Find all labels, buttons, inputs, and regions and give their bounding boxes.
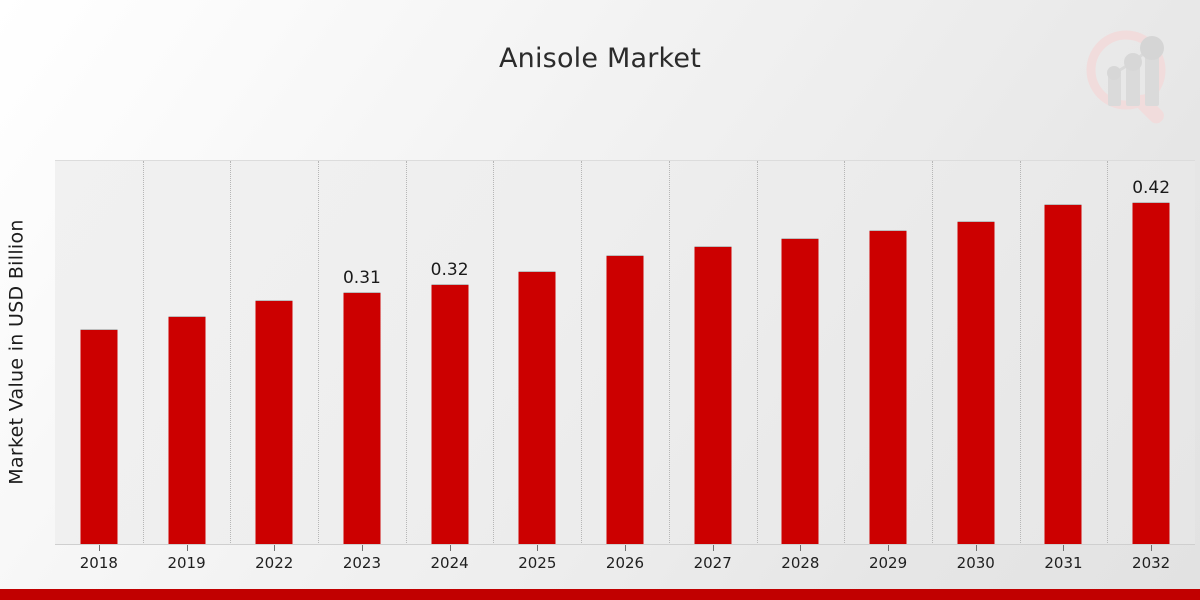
x-tick-label: 2031 (1044, 554, 1082, 572)
bar-value-label: 0.31 (343, 268, 381, 288)
plot-area: 0.310.320.42 (55, 160, 1195, 545)
x-tick-mark (625, 545, 626, 551)
bar[interactable] (694, 246, 731, 545)
x-tick-mark (1063, 545, 1064, 551)
x-tick-label: 2023 (343, 554, 381, 572)
x-tick-label: 2025 (518, 554, 556, 572)
chart-title: Anisole Market (0, 42, 1200, 76)
bar[interactable] (606, 255, 643, 545)
bar[interactable] (168, 316, 205, 545)
bar-slot: 0.42 (1107, 161, 1195, 545)
x-tick-mark (888, 545, 889, 551)
bar-slot (143, 161, 231, 545)
y-axis-title: Market Value in USD Billion (0, 160, 34, 544)
bar-slot (581, 161, 669, 545)
bar[interactable] (431, 284, 468, 545)
bar[interactable] (343, 292, 380, 545)
x-tick-mark (99, 545, 100, 551)
bar-slot (493, 161, 581, 545)
bar-slot (55, 161, 143, 545)
x-tick-label: 2022 (255, 554, 293, 572)
brand-logo (1074, 22, 1182, 130)
x-tick-label: 2018 (80, 554, 118, 572)
bar-slot (932, 161, 1020, 545)
bar-value-label: 0.42 (1132, 178, 1170, 198)
x-tick-mark (713, 545, 714, 551)
x-tick-mark (537, 545, 538, 551)
x-tick-label: 2032 (1132, 554, 1170, 572)
bar-slot (230, 161, 318, 545)
x-tick-label: 2030 (957, 554, 995, 572)
x-tick-mark (362, 545, 363, 551)
bar[interactable] (957, 221, 994, 545)
x-axis: 2018201920222023202420252026202720282029… (55, 544, 1195, 590)
x-tick-label: 2029 (869, 554, 907, 572)
bar-slot: 0.32 (406, 161, 494, 545)
bar[interactable] (870, 230, 907, 545)
footer-band (0, 589, 1200, 600)
bar-value-label: 0.32 (431, 260, 469, 280)
y-axis-title-label: Market Value in USD Billion (6, 219, 28, 484)
x-tick-label: 2027 (694, 554, 732, 572)
x-tick-label: 2026 (606, 554, 644, 572)
bar-slot (1020, 161, 1108, 545)
bar[interactable] (1045, 204, 1082, 546)
x-tick-mark (1151, 545, 1152, 551)
chart-figure: Anisole Market Market Value in USD Billi… (0, 0, 1200, 600)
bar[interactable] (519, 271, 556, 545)
bar[interactable] (1133, 202, 1170, 545)
x-tick-label: 2024 (431, 554, 469, 572)
bar[interactable] (782, 238, 819, 545)
bar-slot (669, 161, 757, 545)
x-tick-mark (976, 545, 977, 551)
bar-slot (844, 161, 932, 545)
x-tick-mark (274, 545, 275, 551)
bar-slot: 0.31 (318, 161, 406, 545)
x-tick-label: 2019 (167, 554, 205, 572)
x-tick-label: 2028 (781, 554, 819, 572)
bar[interactable] (256, 300, 293, 545)
magnifier-bar-chart-logo-icon (1074, 22, 1182, 130)
x-tick-mark (450, 545, 451, 551)
x-tick-mark (187, 545, 188, 551)
bar[interactable] (80, 329, 117, 546)
x-tick-mark (800, 545, 801, 551)
bar-slot (757, 161, 845, 545)
